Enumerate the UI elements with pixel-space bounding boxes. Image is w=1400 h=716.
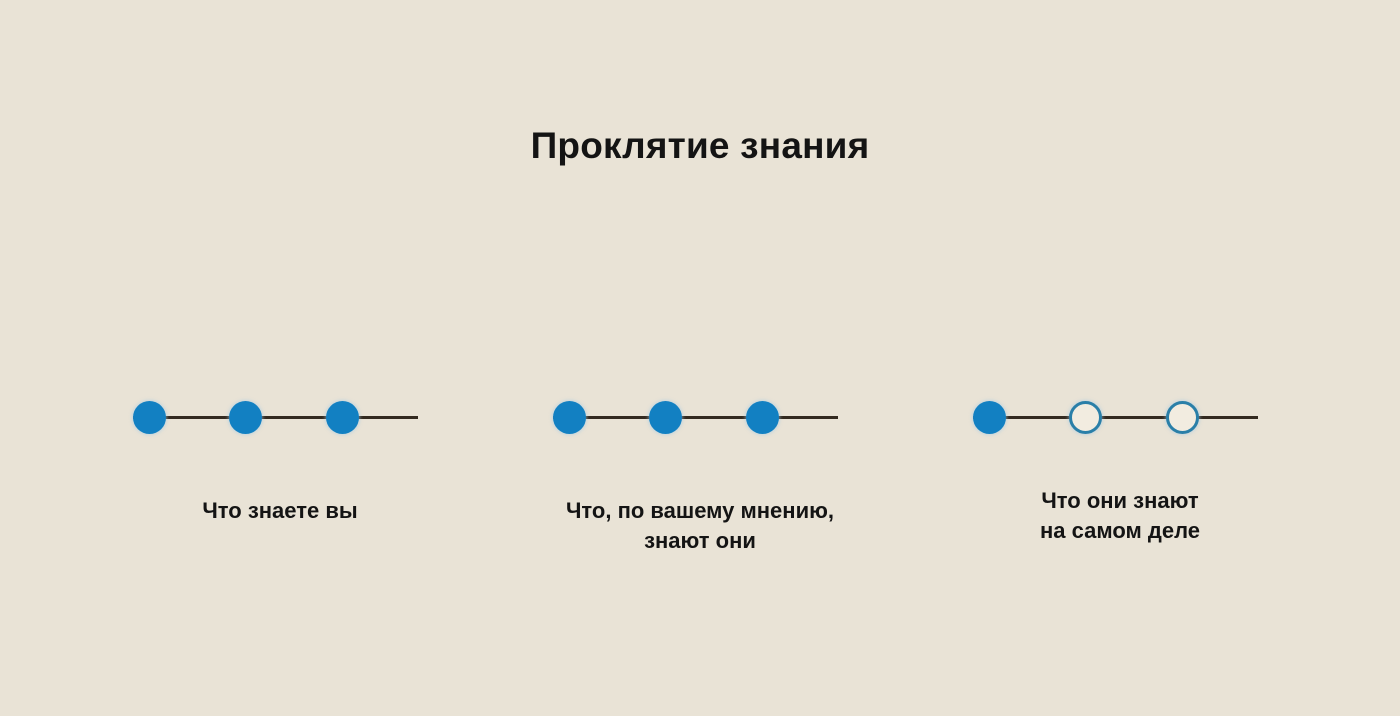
- dot-group-1-caption-line-1: Что знаете вы: [55, 496, 505, 526]
- dot-3-3: [1166, 401, 1199, 434]
- dot-group-3-row: [895, 378, 1345, 456]
- slide-canvas: Проклятие знания Что знаете вы Что, по в…: [0, 0, 1400, 716]
- dot-group-3-caption-line-1: Что они знают: [895, 486, 1345, 516]
- dot-2-3: [746, 401, 779, 434]
- dot-2-1: [553, 401, 586, 434]
- dot-group-3-caption: Что они знают на самом деле: [895, 486, 1345, 546]
- dot-group-2-caption-line-1: Что, по вашему мнению,: [475, 496, 925, 526]
- dot-group-3: Что они знают на самом деле: [895, 378, 1345, 456]
- axis-line-2: [553, 416, 838, 419]
- axis-line-3: [973, 416, 1258, 419]
- dot-1-1: [133, 401, 166, 434]
- dot-group-1: Что знаете вы: [55, 378, 505, 456]
- dot-group-2-caption: Что, по вашему мнению, знают они: [475, 496, 925, 556]
- dot-group-3-caption-line-2: на самом деле: [895, 516, 1345, 546]
- dot-1-2: [229, 401, 262, 434]
- dot-1-3: [326, 401, 359, 434]
- page-title: Проклятие знания: [0, 125, 1400, 167]
- dot-3-2: [1069, 401, 1102, 434]
- dot-3-1: [973, 401, 1006, 434]
- dot-group-2-row: [475, 378, 925, 456]
- dot-group-2-caption-line-2: знают они: [475, 526, 925, 556]
- dot-group-1-row: [55, 378, 505, 456]
- dot-group-2: Что, по вашему мнению, знают они: [475, 378, 925, 456]
- dot-2-2: [649, 401, 682, 434]
- axis-line-1: [133, 416, 418, 419]
- dot-group-1-caption: Что знаете вы: [55, 496, 505, 526]
